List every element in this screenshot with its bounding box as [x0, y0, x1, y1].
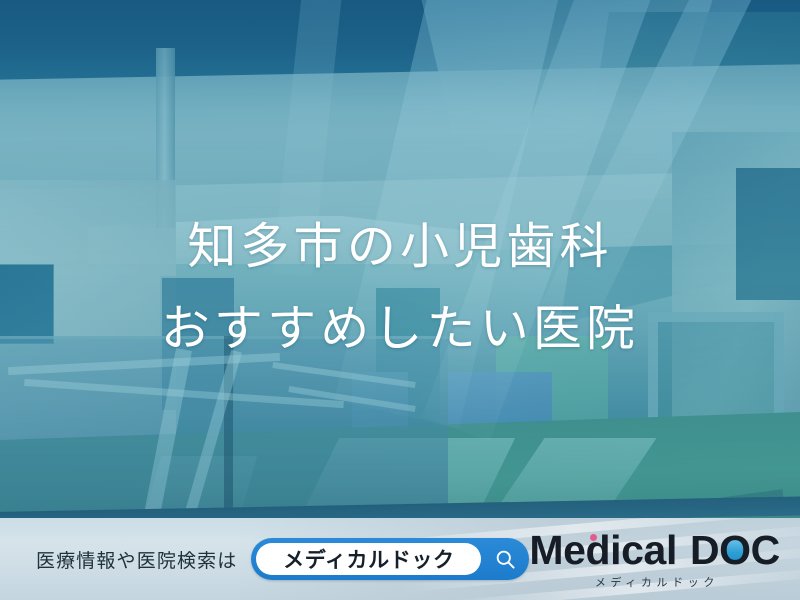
logo-word-medical-text: Medical	[529, 527, 677, 573]
footer-bar: 医療情報や医院検索は メディカルドック Medical	[0, 518, 800, 600]
logo-wordmark: Medical DOC	[529, 530, 779, 571]
color-overlay-tint	[0, 0, 800, 600]
logo-i-dot	[590, 534, 597, 541]
footer-left-group: 医療情報や医院検索は メディカルドック	[36, 538, 529, 580]
brand-logo[interactable]: Medical DOC メディカルドック	[529, 530, 779, 589]
banner-canvas: 知多市の小児歯科 おすすめしたい医院 医療情報や医院検索は メディカルドック	[0, 0, 800, 600]
search-icon	[494, 548, 517, 571]
logo-word-doc: DOC	[690, 530, 780, 571]
footer-caption: 医療情報や医院検索は	[36, 546, 237, 573]
logo-subtitle: メディカルドック	[529, 578, 779, 589]
logo-word-medical: Medical	[529, 530, 677, 571]
search-input-value: メディカルドック	[283, 544, 455, 574]
logo-word-doc-text: DOC	[690, 527, 780, 573]
search-button[interactable]	[485, 539, 525, 579]
search-pill[interactable]: メディカルドック	[251, 538, 529, 580]
search-input[interactable]: メディカルドック	[256, 543, 481, 575]
